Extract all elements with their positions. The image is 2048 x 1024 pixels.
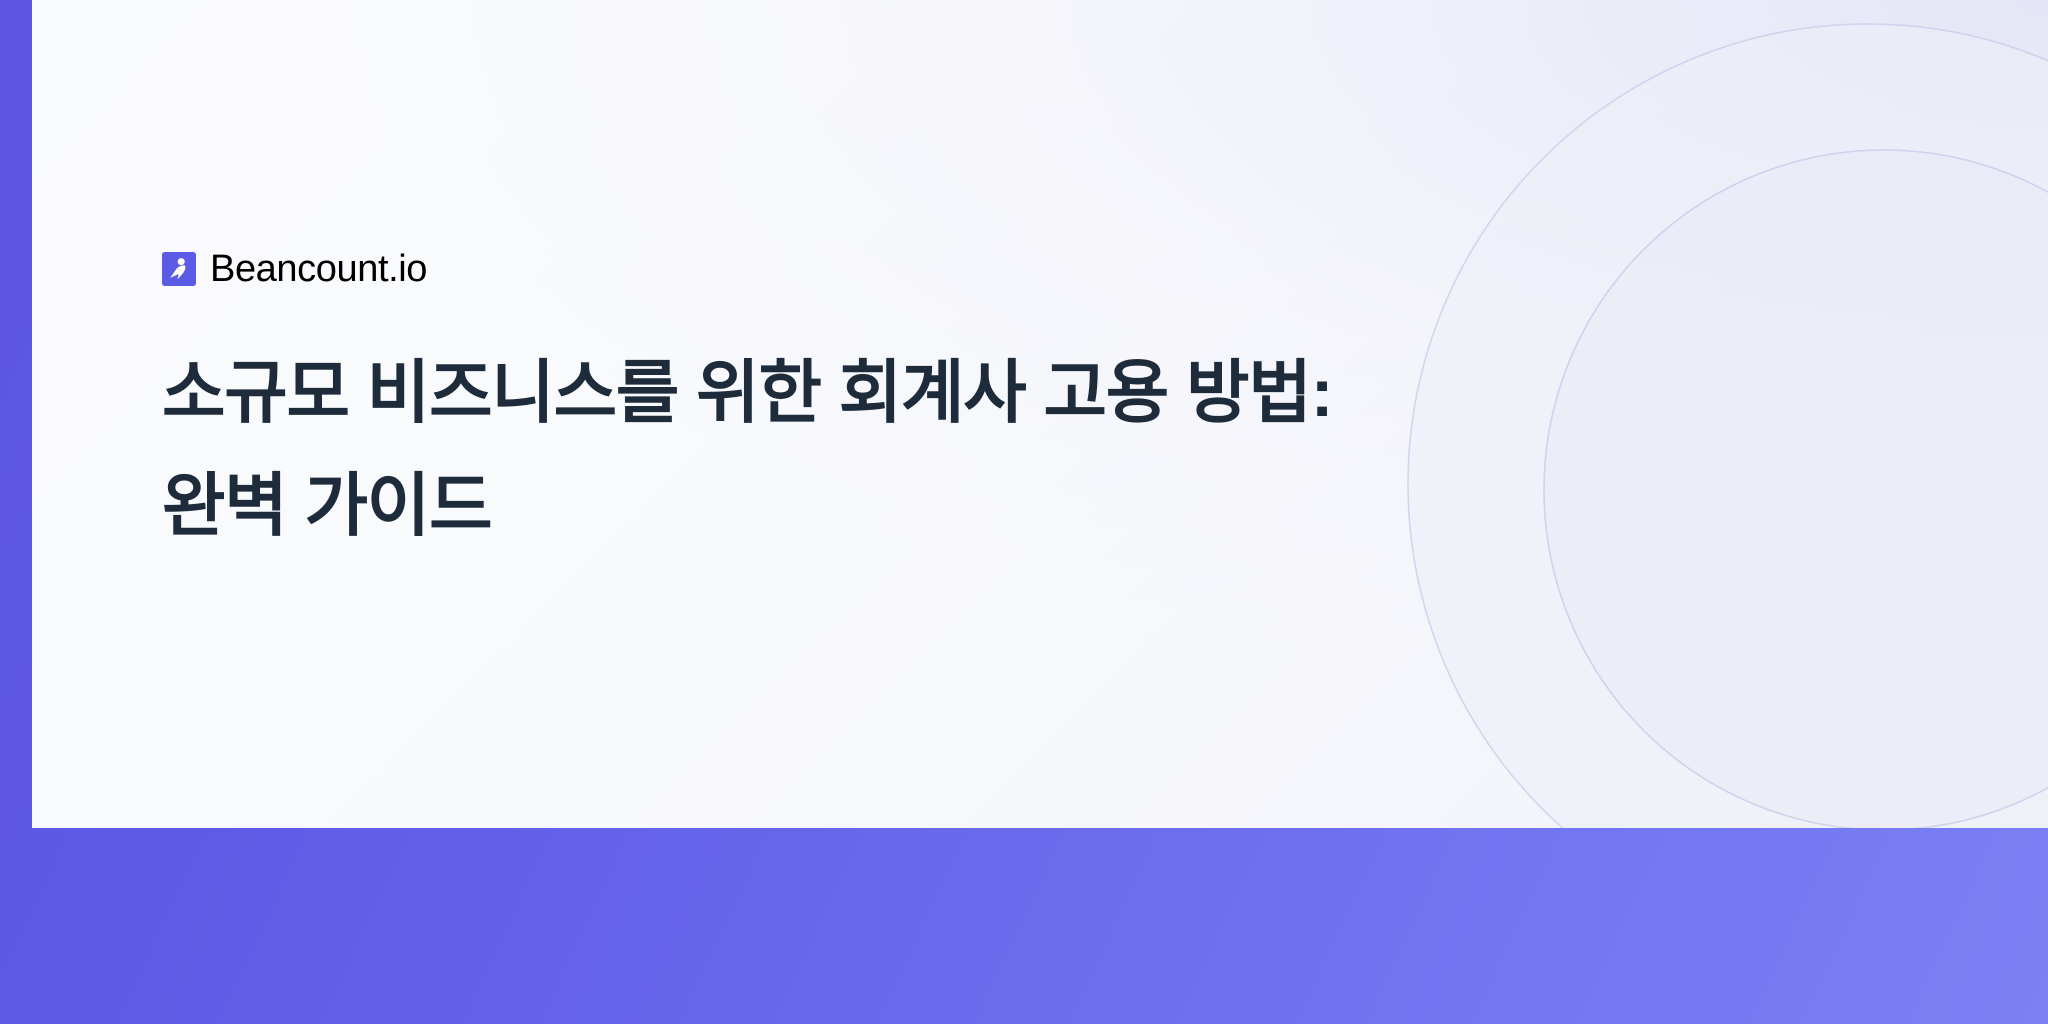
page-title-line-2: 완벽 가이드 xyxy=(162,449,1482,562)
beancount-running-person-logo-icon xyxy=(162,252,196,286)
content-card: Beancount.io 소규모 비즈니스를 위한 회계사 고용 방법: 완벽 … xyxy=(32,0,2048,828)
page-title: 소규모 비즈니스를 위한 회계사 고용 방법: 완벽 가이드 xyxy=(162,336,1482,562)
page-title-line-1: 소규모 비즈니스를 위한 회계사 고용 방법: xyxy=(162,336,1482,449)
brand-lockup[interactable]: Beancount.io xyxy=(162,250,427,288)
og-image-canvas: Beancount.io 소규모 비즈니스를 위한 회계사 고용 방법: 완벽 … xyxy=(0,0,2048,1024)
card-inner-content: Beancount.io 소규모 비즈니스를 위한 회계사 고용 방법: 완벽 … xyxy=(162,0,1662,828)
brand-name-label: Beancount.io xyxy=(210,250,427,288)
